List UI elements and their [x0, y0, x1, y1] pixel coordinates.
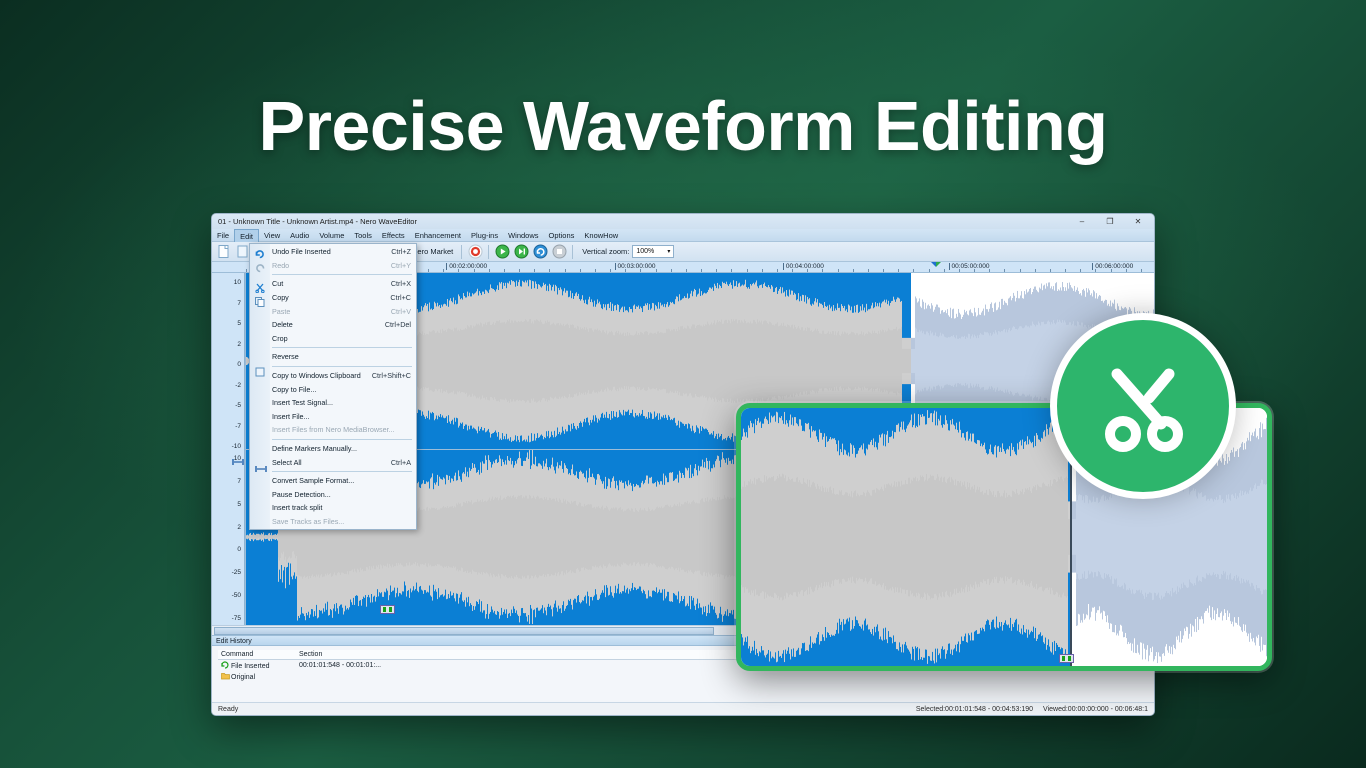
- inset-waveform-rms: [1117, 487, 1118, 586]
- inset-waveform-rms: [961, 486, 962, 587]
- waveform-rms: [829, 334, 830, 388]
- inset-waveform-rms: [999, 493, 1000, 581]
- waveform-rms: [851, 332, 852, 391]
- waveform-rms: [684, 502, 685, 571]
- ruler-label: 00:03:00:000: [615, 263, 656, 270]
- waveform-rms: [751, 323, 752, 398]
- waveform-rms: [440, 508, 441, 565]
- menu-item-define-markers-manually[interactable]: Define Markers Manually...: [250, 442, 416, 456]
- menu-item-copy-to-windows-clipboard[interactable]: Copy to Windows ClipboardCtrl+Shift+C: [250, 369, 416, 383]
- inset-waveform-rms: [1192, 490, 1193, 584]
- waveform-rms: [421, 334, 422, 388]
- inset-waveform-rms: [968, 487, 969, 587]
- waveform-rms: [458, 330, 459, 393]
- waveform-rms: [277, 536, 278, 539]
- menu-tools[interactable]: Tools: [349, 229, 377, 242]
- waveform-rms: [630, 511, 631, 564]
- inset-waveform-rms: [859, 496, 860, 578]
- waveform-rms: [706, 501, 707, 573]
- waveform-rms: [466, 329, 467, 393]
- waveform-rms: [698, 503, 699, 570]
- menu-item-label: Insert File...: [272, 412, 401, 421]
- waveform-rms: [505, 324, 506, 399]
- waveform-rms: [1029, 328, 1030, 395]
- table-row[interactable]: Original: [218, 671, 1148, 682]
- inset-waveform-rms: [1107, 499, 1108, 576]
- waveform-rms: [674, 504, 675, 570]
- inset-waveform-rms: [1231, 495, 1232, 580]
- inset-waveform-rms: [973, 489, 974, 585]
- inset-waveform-rms: [824, 492, 825, 582]
- waveform-rms: [465, 503, 466, 571]
- waveform-rms: [919, 330, 920, 392]
- waveform-rms: [776, 324, 777, 399]
- waveform-rms: [691, 502, 692, 572]
- loop-icon[interactable]: [532, 244, 548, 260]
- waveform-rms: [566, 324, 567, 397]
- waveform-rms: [545, 499, 546, 575]
- inset-waveform-rms: [1230, 501, 1231, 573]
- waveform-rms: [511, 320, 512, 402]
- menu-knowhow[interactable]: KnowHow: [579, 229, 623, 242]
- waveform-rms: [801, 327, 802, 395]
- waveform-rms: [668, 329, 669, 394]
- waveform-rms: [461, 507, 462, 568]
- waveform-rms: [559, 325, 560, 396]
- inset-waveform-rms: [1258, 486, 1259, 588]
- inset-waveform-rms: [949, 477, 950, 597]
- waveform-rms: [819, 333, 820, 388]
- history-section: [296, 671, 456, 682]
- inset-waveform-rms: [926, 474, 927, 600]
- inset-waveform-rms: [1022, 489, 1023, 585]
- inset-waveform-rms: [990, 491, 991, 583]
- waveform-rms: [520, 321, 521, 400]
- waveform-rms: [785, 326, 786, 397]
- inset-waveform-rms: [996, 497, 997, 576]
- waveform-rms: [908, 349, 909, 373]
- inset-waveform-rms: [1066, 476, 1067, 597]
- menu-options[interactable]: Options: [544, 229, 580, 242]
- waveform-rms: [746, 323, 747, 398]
- drag-handle-icon: [1062, 656, 1071, 661]
- menu-plugins[interactable]: Plug-ins: [466, 229, 503, 242]
- inset-waveform-rms: [758, 478, 759, 596]
- waveform-rms: [752, 323, 753, 399]
- waveform-rms: [664, 333, 665, 389]
- waveform-rms: [451, 330, 452, 392]
- inset-waveform-rms: [1211, 498, 1212, 575]
- waveform-rms: [581, 506, 582, 567]
- menu-item-insert-test-signal[interactable]: Insert Test Signal...: [250, 396, 416, 410]
- inset-waveform-rms: [1236, 499, 1237, 575]
- inset-waveform-rms: [936, 478, 937, 595]
- waveform-rms: [640, 508, 641, 566]
- inset-waveform-rms: [751, 484, 752, 591]
- ruler-tick: [777, 269, 778, 272]
- waveform-rms: [583, 329, 584, 392]
- waveform-rms: [738, 320, 739, 401]
- waveform-rms: [530, 496, 531, 578]
- menu-item-label: Define Markers Manually...: [272, 444, 401, 453]
- inset-waveform-rms: [1030, 491, 1031, 583]
- waveform-rms: [692, 501, 693, 573]
- waveform-rms: [827, 333, 828, 389]
- menu-item-label: Crop: [272, 334, 401, 343]
- waveform-rms: [710, 499, 711, 576]
- inset-waveform-rms: [1015, 494, 1016, 580]
- inset-selection-handle[interactable]: [1059, 654, 1074, 663]
- record-icon[interactable]: [467, 244, 483, 260]
- inset-waveform-rms: [958, 481, 959, 593]
- history-command: File Inserted: [231, 663, 270, 670]
- ruler-tick: [1141, 269, 1142, 272]
- ruler-tick: [1065, 269, 1066, 272]
- vscale-label: -7: [235, 423, 241, 430]
- waveform-rms: [713, 499, 714, 575]
- menu-audio[interactable]: Audio: [285, 229, 314, 242]
- waveform-rms: [1034, 325, 1035, 397]
- ruler-tick: [822, 269, 823, 272]
- inset-waveform-rms: [1229, 499, 1230, 574]
- waveform-rms: [695, 328, 696, 394]
- play-selection-icon[interactable]: [513, 244, 529, 260]
- minimize-button[interactable]: –: [1068, 214, 1096, 229]
- inset-waveform-rms: [1031, 493, 1032, 581]
- waveform-rms: [802, 327, 803, 395]
- waveform-rms: [509, 319, 510, 403]
- selection-start-handle[interactable]: [380, 605, 395, 614]
- vscale-label: -5: [235, 402, 241, 409]
- waveform-rms: [913, 349, 914, 373]
- waveform-rms: [880, 330, 881, 392]
- waveform-rms: [944, 337, 945, 386]
- vertical-zoom-select[interactable]: 100% ▾: [632, 245, 674, 258]
- inset-waveform-rms: [1080, 495, 1081, 579]
- waveform-rms: [739, 320, 740, 402]
- waveform-rms: [892, 330, 893, 391]
- waveform-rms: [683, 504, 684, 569]
- inset-waveform-rms: [1124, 491, 1125, 583]
- inset-waveform-rms: [1138, 484, 1139, 591]
- menu-enhancement[interactable]: Enhancement: [410, 229, 466, 242]
- waveform-rms: [742, 322, 743, 401]
- inset-waveform-rms: [837, 494, 838, 580]
- waveform-rms: [567, 501, 568, 573]
- waveform-rms: [853, 332, 854, 390]
- waveform-rms: [981, 334, 982, 387]
- menu-item-copy-to-file[interactable]: Copy to File...: [250, 382, 416, 396]
- waveform-rms: [712, 497, 713, 576]
- inset-waveform-rms: [814, 483, 815, 591]
- waveform-rms: [982, 335, 983, 388]
- window-controls: – ❐ ✕: [1068, 214, 1152, 229]
- waveform-rms: [828, 331, 829, 390]
- vscale-label: -75: [232, 615, 241, 622]
- close-button[interactable]: ✕: [1124, 214, 1152, 229]
- waveform-rms: [781, 323, 782, 398]
- inset-waveform-rms: [944, 477, 945, 597]
- inset-waveform-rms: [987, 495, 988, 579]
- menu-file[interactable]: File: [212, 229, 234, 242]
- inset-waveform-rms: [984, 493, 985, 581]
- inset-waveform-rms: [1237, 496, 1238, 578]
- menu-item-label: Paste: [272, 307, 381, 316]
- waveform-rms: [531, 498, 532, 575]
- waveform-rms: [872, 331, 873, 392]
- waveform-rms: [495, 497, 496, 577]
- inset-waveform-rms: [1024, 492, 1025, 582]
- nero-market-label: Nero Market: [412, 247, 453, 256]
- menu-item-copy[interactable]: CopyCtrl+C: [250, 291, 416, 305]
- stop-icon[interactable]: [551, 244, 567, 260]
- inset-waveform-rms: [1249, 490, 1250, 583]
- inset-waveform-rms: [1111, 498, 1112, 576]
- waveform-rms: [592, 508, 593, 566]
- waveform-rms: [456, 328, 457, 395]
- inset-waveform-rms: [1098, 503, 1099, 571]
- menu-item-undo-file-inserted[interactable]: Undo File InsertedCtrl+Z: [250, 245, 416, 259]
- ruler-tick: [1126, 269, 1127, 272]
- inset-waveform-rms: [924, 481, 925, 592]
- waveform-rms: [504, 322, 505, 400]
- ruler-tick: [519, 269, 520, 272]
- waveform-rms: [431, 507, 432, 566]
- waveform-rms: [441, 333, 442, 389]
- menu-edit[interactable]: Edit: [234, 229, 259, 242]
- ruler-tick: [428, 269, 429, 272]
- waveform-rms: [764, 321, 765, 402]
- waveform-rms: [774, 326, 775, 397]
- inset-waveform-rms: [879, 490, 880, 583]
- menu-item-label: Delete: [272, 320, 375, 329]
- ruler-tick: [1020, 269, 1021, 272]
- menu-item-crop[interactable]: Crop: [250, 332, 416, 346]
- waveform-rms: [858, 335, 859, 386]
- ruler-tick: [640, 269, 641, 272]
- waveform-rms: [660, 332, 661, 390]
- waveform-rms: [912, 349, 913, 373]
- menu-item-pause-detection[interactable]: Pause Detection...: [250, 488, 416, 502]
- waveform-rms: [639, 335, 640, 387]
- waveform-rms: [856, 333, 857, 389]
- inset-waveform-rms: [1076, 495, 1077, 579]
- inset-waveform-rms: [1232, 494, 1233, 580]
- inset-waveform-rms: [1116, 496, 1117, 579]
- waveform-rms: [576, 505, 577, 569]
- inset-waveform-rms: [1045, 486, 1046, 589]
- window-titlebar: 01 - Unknown Title - Unknown Artist.mp4 …: [212, 214, 1154, 229]
- play-icon[interactable]: [494, 244, 510, 260]
- menu-view[interactable]: View: [259, 229, 285, 242]
- waveform-rms: [271, 535, 272, 540]
- inset-waveform-rms: [1099, 502, 1100, 572]
- menu-item-cut[interactable]: CutCtrl+X: [250, 277, 416, 291]
- waveform-rms: [457, 505, 458, 570]
- waveform-rms: [765, 320, 766, 401]
- waveform-rms: [973, 337, 974, 384]
- waveform-rms: [711, 322, 712, 399]
- inset-waveform-rms: [834, 494, 835, 580]
- waveform-rms: [826, 334, 827, 388]
- waveform-rms: [706, 325, 707, 398]
- waveform-rms: [628, 508, 629, 565]
- waveform-rms: [926, 331, 927, 390]
- waveform-rms: [945, 337, 946, 385]
- inset-waveform-rms: [956, 486, 957, 589]
- waveform-rms: [831, 334, 832, 389]
- chevron-down-icon: ▾: [667, 248, 670, 255]
- waveform-rms: [616, 331, 617, 391]
- waveform-rms: [502, 500, 503, 575]
- inset-waveform-rms: [817, 484, 818, 590]
- inset-waveform-rms: [801, 484, 802, 590]
- inset-waveform-rms: [1034, 487, 1035, 587]
- inset-waveform-rms: [907, 484, 908, 590]
- waveform-rms: [443, 331, 444, 392]
- waveform-rms: [938, 337, 939, 385]
- waveform-rms: [421, 510, 422, 565]
- waveform-rms: [463, 502, 464, 572]
- inset-waveform-rms: [1019, 494, 1020, 579]
- inset-waveform-rms: [1093, 497, 1094, 578]
- menu-item-insert-file[interactable]: Insert File...: [250, 410, 416, 424]
- waveform-rms: [573, 325, 574, 397]
- waveform-rms: [939, 336, 940, 387]
- waveform-rms: [506, 322, 507, 399]
- waveform-rms: [1039, 323, 1040, 399]
- waveform-rms: [635, 334, 636, 389]
- inset-waveform-rms: [841, 490, 842, 584]
- playhead-marker-green[interactable]: [936, 262, 941, 267]
- waveform-rms: [733, 498, 734, 577]
- menu-windows[interactable]: Windows: [503, 229, 543, 242]
- waveform-rms: [994, 334, 995, 389]
- menu-effects[interactable]: Effects: [377, 229, 410, 242]
- waveform-rms: [545, 321, 546, 401]
- waveform-rms: [638, 333, 639, 389]
- menu-volume[interactable]: Volume: [314, 229, 349, 242]
- waveform-rms: [490, 501, 491, 574]
- waveform-rms: [769, 322, 770, 401]
- inset-waveform-rms: [1174, 482, 1175, 592]
- waveform-rms: [805, 328, 806, 394]
- waveform-rms: [969, 334, 970, 388]
- waveform-rms: [585, 506, 586, 568]
- waveform-rms: [479, 325, 480, 396]
- inset-waveform-rms: [912, 481, 913, 593]
- ruler-tick: [458, 269, 459, 272]
- menu-item-delete[interactable]: DeleteCtrl+Del: [250, 318, 416, 332]
- edit-menu-dropdown[interactable]: Undo File InsertedCtrl+ZRedoCtrl+YCutCtr…: [249, 243, 417, 530]
- waveform-rms: [1031, 326, 1032, 397]
- waveform-rms: [264, 536, 265, 538]
- waveform-rms: [679, 502, 680, 571]
- inset-waveform-rms: [1051, 486, 1052, 588]
- waveform-rms: [502, 322, 503, 399]
- waveform-rms: [716, 501, 717, 574]
- waveform-rms: [448, 508, 449, 566]
- waveform-rms: [691, 326, 692, 395]
- waveform-rms: [864, 336, 865, 387]
- new-file-icon[interactable]: [216, 244, 232, 260]
- inset-waveform-rms: [1234, 498, 1235, 576]
- inset-waveform-rms: [1081, 495, 1082, 579]
- waveform-rms: [575, 328, 576, 395]
- menu-item-label: Redo: [272, 261, 381, 270]
- waveform-rms: [607, 335, 608, 388]
- inset-waveform-rms: [742, 487, 743, 588]
- waveform-rms: [448, 328, 449, 393]
- waveform-rms: [276, 536, 277, 539]
- waveform-rms: [893, 329, 894, 393]
- waveform-rms: [777, 322, 778, 399]
- menu-separator: [272, 366, 412, 367]
- waveform-rms: [533, 324, 534, 399]
- waveform-rms: [522, 498, 523, 575]
- waveform-rms: [610, 509, 611, 564]
- inset-waveform-rms: [1101, 496, 1102, 577]
- waveform-rms: [708, 502, 709, 573]
- waveform-rms: [720, 500, 721, 575]
- waveform-rms: [652, 509, 653, 564]
- ruler-label: 00:02:00:000: [446, 263, 487, 270]
- waveform-rms: [267, 535, 268, 538]
- waveform-rms: [1014, 327, 1015, 395]
- waveform-rms: [507, 496, 508, 578]
- menu-item-reverse[interactable]: Reverse: [250, 350, 416, 364]
- menu-item-insert-track-split[interactable]: Insert track split: [250, 501, 416, 515]
- inset-waveform-rms: [1225, 502, 1226, 571]
- waveform-rms: [901, 327, 902, 395]
- waveform-rms: [854, 333, 855, 389]
- waveform-rms: [275, 536, 276, 539]
- menu-item-shortcut: Ctrl+Del: [385, 320, 411, 329]
- inset-waveform-rms: [1167, 481, 1168, 593]
- inset-waveform-rms: [1189, 495, 1190, 580]
- inset-waveform-rms: [781, 477, 782, 598]
- maximize-button[interactable]: ❐: [1096, 214, 1124, 229]
- ruler-tick: [549, 269, 550, 272]
- inset-waveform-rms: [954, 485, 955, 589]
- waveform-rms: [634, 335, 635, 387]
- inset-waveform-rms: [969, 483, 970, 591]
- inset-waveform-rms: [821, 491, 822, 583]
- waveform-rms: [671, 507, 672, 567]
- waveform-rms: [458, 502, 459, 571]
- vertical-fit-handle[interactable]: [232, 453, 244, 461]
- waveform-rms: [527, 322, 528, 401]
- waveform-rms: [544, 324, 545, 399]
- inset-waveform-rms: [1118, 489, 1119, 586]
- menu-item-convert-sample-format[interactable]: Convert Sample Format...: [250, 474, 416, 488]
- waveform-rms: [544, 497, 545, 577]
- waveform-rms: [699, 325, 700, 398]
- waveform-rms: [558, 502, 559, 572]
- inset-waveform-rms: [1010, 496, 1011, 577]
- scrollbar-thumb[interactable]: [214, 627, 714, 635]
- inset-waveform-rms: [946, 483, 947, 591]
- inset-waveform-rms: [1216, 497, 1217, 577]
- waveform-rms: [1036, 325, 1037, 398]
- waveform-rms: [835, 331, 836, 390]
- waveform-rms: [552, 324, 553, 399]
- waveform-rms: [814, 330, 815, 391]
- inset-waveform-rms: [975, 492, 976, 581]
- inset-waveform-rms: [772, 477, 773, 597]
- waveform-rms: [677, 331, 678, 391]
- menu-item-select-all[interactable]: Select AllCtrl+A: [250, 455, 416, 469]
